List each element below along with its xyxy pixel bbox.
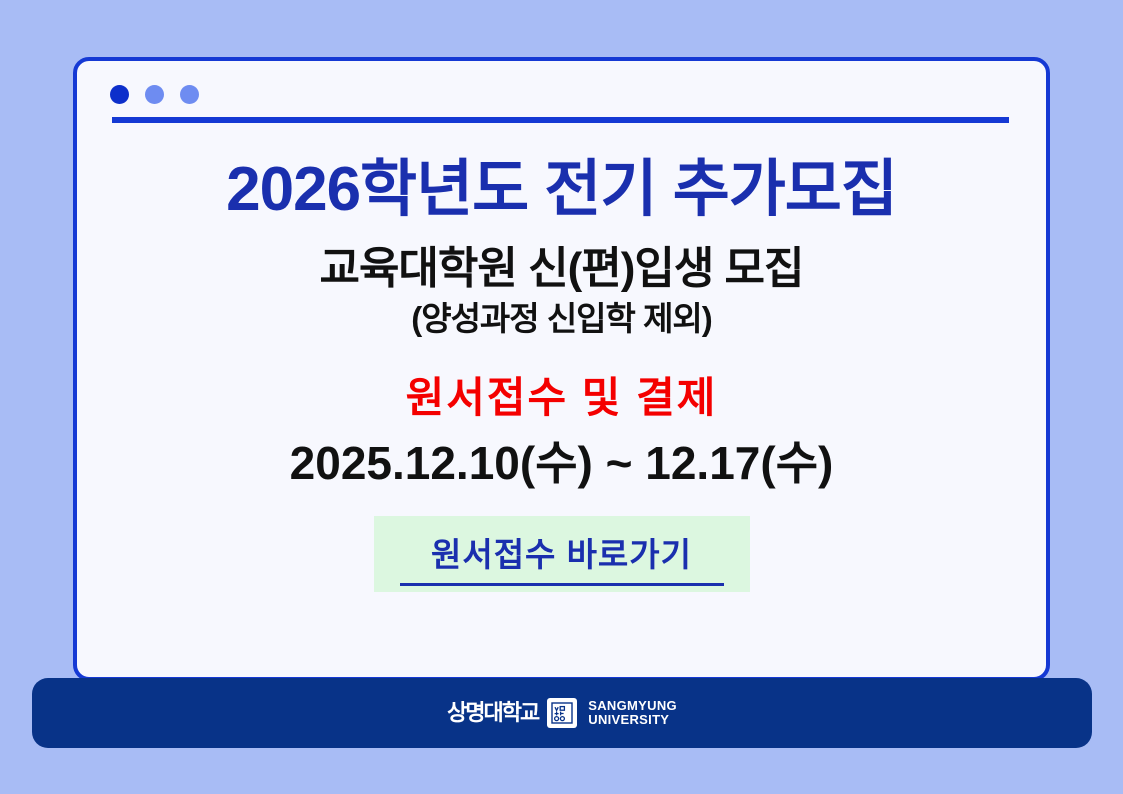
application-headline: 원서접수 및 결제 <box>77 375 1046 421</box>
announcement-subtitle: 교육대학원 신(편)입생 모집 <box>77 245 1046 293</box>
apply-link-label: 원서접수 바로가기 <box>374 528 750 576</box>
application-period: 2025.12.10(수) ~ 12.17(수) <box>77 438 1046 489</box>
window-dot-close-icon[interactable] <box>110 85 129 104</box>
announcement-note: (양성과정 신입학 제외) <box>77 301 1046 337</box>
page-title: 2026학년도 전기 추가모집 <box>77 157 1046 223</box>
browser-card: 2026학년도 전기 추가모집 교육대학원 신(편)입생 모집 (양성과정 신입… <box>73 57 1050 681</box>
announcement-content: 2026학년도 전기 추가모집 교육대학원 신(편)입생 모집 (양성과정 신입… <box>77 157 1046 592</box>
apply-link-underline <box>400 583 724 586</box>
window-dot-maximize-icon[interactable] <box>180 85 199 104</box>
poster-root: 2026학년도 전기 추가모집 교육대학원 신(편)입생 모집 (양성과정 신입… <box>0 0 1123 794</box>
university-name-english-line2: UNIVERSITY <box>588 713 677 727</box>
window-controls <box>110 85 199 104</box>
window-dot-minimize-icon[interactable] <box>145 85 164 104</box>
address-bar-rule <box>112 117 1009 123</box>
university-name-english: SANGMYUNG UNIVERSITY <box>588 699 677 727</box>
university-name-korean: 상명대학교 <box>447 702 538 724</box>
footer-bar: 상명대학교 SANGMYUNG UNIVERSITY <box>32 678 1092 748</box>
university-name-english-line1: SANGMYUNG <box>588 699 677 713</box>
apply-link-button[interactable]: 원서접수 바로가기 <box>374 516 750 592</box>
sangmyung-emblem-icon <box>547 698 577 728</box>
